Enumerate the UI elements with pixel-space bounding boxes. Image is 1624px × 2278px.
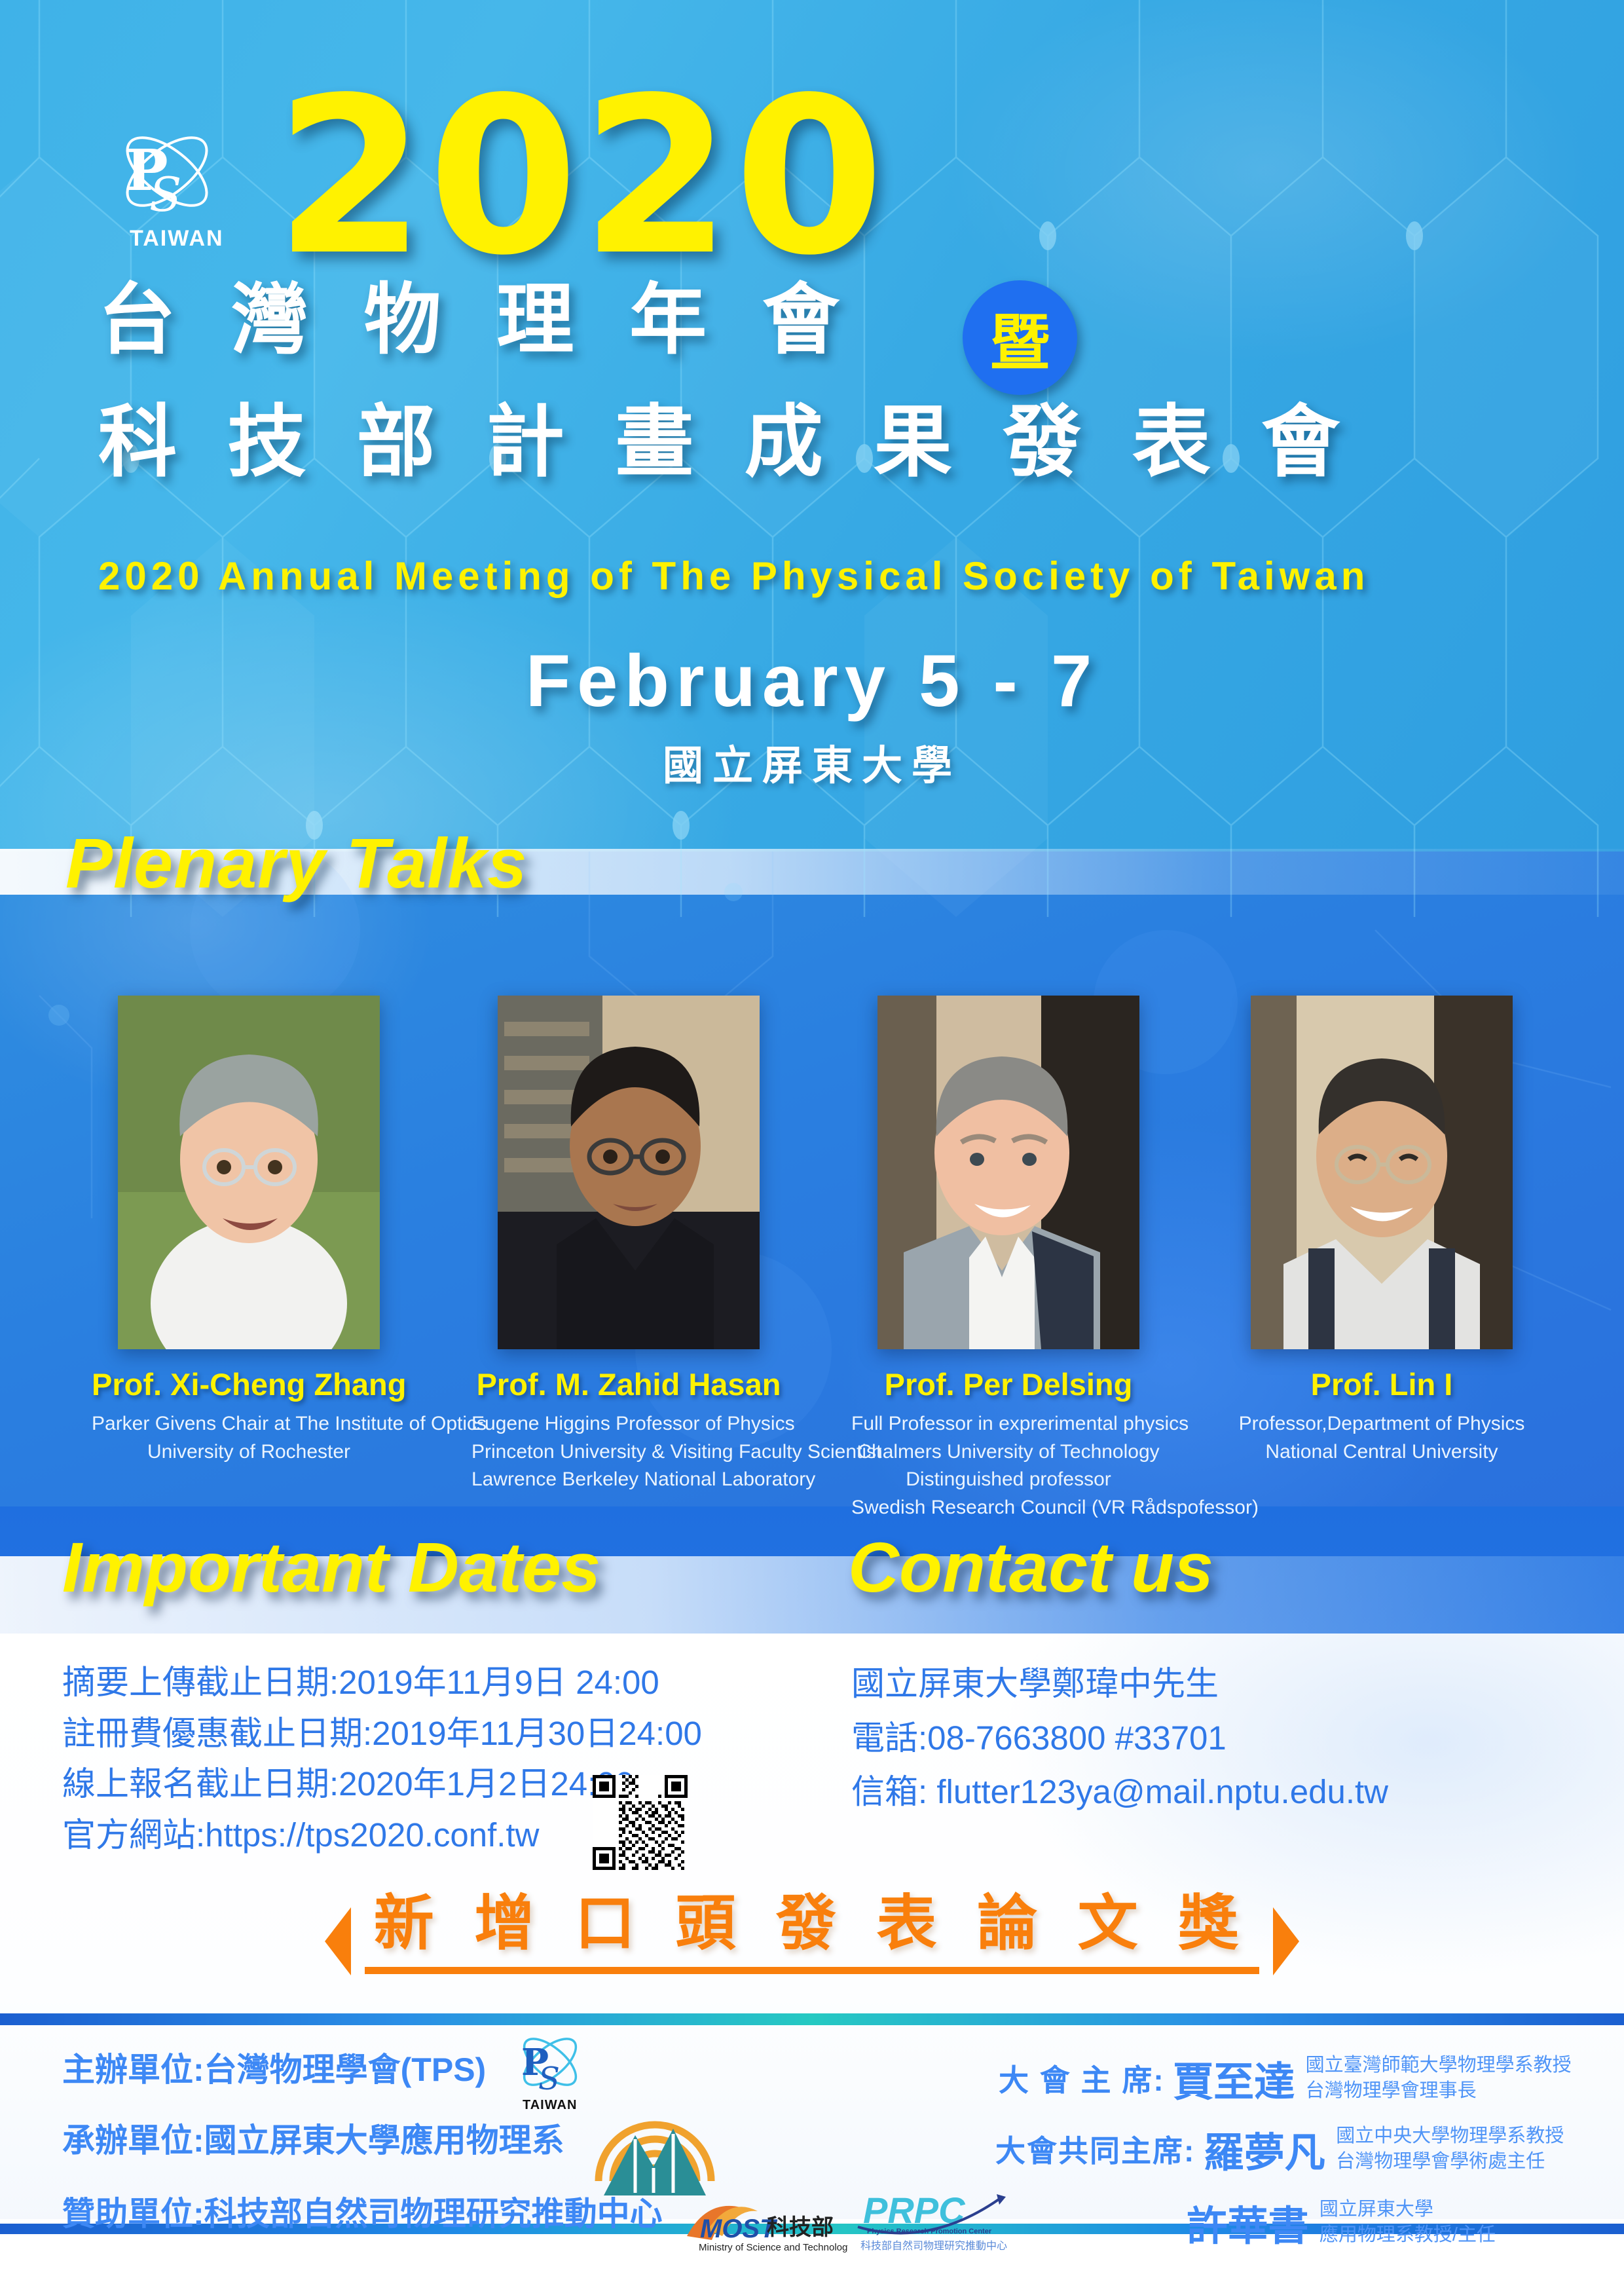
speaker-affiliation: Full Professor in exprerimental physics … <box>851 1410 1166 1522</box>
affiliation-line: Distinguished professor <box>851 1466 1166 1494</box>
contact-person: 國立屏東大學鄭瑋中先生 <box>851 1657 1572 1711</box>
contact-email[interactable]: 信箱: flutter123ya@mail.nptu.edu.tw <box>851 1765 1572 1820</box>
svg-text:S: S <box>538 2061 560 2097</box>
tps-taiwan-logo: P S TAIWAN <box>98 111 236 255</box>
chinese-title-line2: 科 技 部 計 畫 成 果 發 表 會 <box>98 403 1354 481</box>
affiliation-line: Parker Givens Chair at The Institute of … <box>92 1410 406 1438</box>
affiliation-line: Swedish Research Council (VR Rådspofesso… <box>851 1494 1166 1522</box>
footer-divider-top <box>0 2013 1624 2025</box>
speaker-card: Prof. M. Zahid Hasan Eugene Higgins Prof… <box>471 996 786 1494</box>
speaker-card: Prof. Per Delsing Full Professor in expr… <box>851 996 1166 1522</box>
speaker-photo <box>877 996 1139 1349</box>
chair-desc-line: 國立屏東大學 <box>1319 2197 1496 2222</box>
prpc-center-logo: PRPC Physics Research Promotion Center 科… <box>851 2186 1015 2255</box>
organizer-host: 承辦單位:國立屏東大學應用物理系 <box>62 2114 564 2161</box>
speaker-card: Prof. Xi-Cheng Zhang Parker Givens Chair… <box>92 996 406 1466</box>
affiliation-line: Lawrence Berkeley National Laboratory <box>471 1466 786 1494</box>
contact-us-heading: Contact us <box>848 1526 1213 1608</box>
chinese-title-line1: 台 灣 物 理 年 會 <box>98 282 857 359</box>
plenary-talks-heading: Plenary Talks <box>65 822 527 904</box>
nptu-university-logo <box>589 2083 720 2207</box>
chair-label: 大 會 主 席: <box>999 2057 1165 2100</box>
svg-text:S: S <box>149 167 181 222</box>
svg-text:科技部自然司物理研究推動中心: 科技部自然司物理研究推動中心 <box>860 2239 1007 2252</box>
svg-text:科技部: 科技部 <box>767 2214 834 2241</box>
year-title: 2020 <box>275 69 887 285</box>
most-ministry-logo: MOST 科技部 Ministry of Science and Technol… <box>684 2193 848 2255</box>
chair-name: 賈至達 <box>1173 2049 1295 2108</box>
important-dates-heading: Important Dates <box>62 1526 600 1608</box>
chair-desc-line: 國立中央大學物理學系教授 <box>1336 2123 1564 2149</box>
speaker-affiliation: Professor,Department of Physics National… <box>1225 1410 1539 1466</box>
award-banner: 新 增 口 頭 發 表 論 文 獎 <box>0 1875 1624 1975</box>
chair-name: 許華書 <box>1187 2193 1308 2252</box>
award-banner-text: 新 增 口 頭 發 表 論 文 獎 <box>365 1875 1260 1974</box>
right-arrow-icon <box>1273 1907 1299 1975</box>
affiliation-line: Eugene Higgins Professor of Physics <box>471 1410 786 1438</box>
ji-badge: 暨 <box>963 280 1077 395</box>
date-item: 摘要上傳截止日期:2019年11月9日 24:00 <box>62 1657 796 1708</box>
speaker-name: Prof. Lin I <box>1225 1366 1539 1402</box>
chair-name: 羅夢凡 <box>1204 2119 1325 2178</box>
chair-label: 大會共同主席: <box>995 2127 1195 2171</box>
chair-desc-line: 國立臺灣師範大學物理學系教授 <box>1306 2053 1572 2078</box>
speaker-name: Prof. Xi-Cheng Zhang <box>92 1366 406 1402</box>
contact-list: 國立屏東大學鄭瑋中先生 電話:08-7663800 #33701 信箱: flu… <box>851 1657 1572 1820</box>
tps-taiwan-logo-footer: P S TAIWAN <box>504 2028 596 2113</box>
speaker-photo <box>1251 996 1513 1349</box>
chair-row: 許華書 國立屏東大學 應用物理系教授/主任 <box>1179 2193 1496 2252</box>
speaker-photo <box>498 996 760 1349</box>
conference-date: February 5 - 7 <box>0 639 1624 723</box>
chair-desc-line: 台灣物理學會理事長 <box>1306 2078 1572 2104</box>
speaker-affiliation: Parker Givens Chair at The Institute of … <box>92 1410 406 1466</box>
conference-poster: P S TAIWAN 2020 台 灣 物 理 年 會 科 技 部 計 畫 成 … <box>0 0 1624 2278</box>
chair-desc-line: 台灣物理學會學術處主任 <box>1336 2149 1564 2175</box>
affiliation-line: Chalmers University of Technology <box>851 1438 1166 1466</box>
speaker-affiliation: Eugene Higgins Professor of Physics Prin… <box>471 1410 786 1494</box>
chair-row: 大 會 主 席: 賈至達 國立臺灣師範大學物理學系教授 台灣物理學會理事長 <box>999 2049 1572 2108</box>
speakers-list: Prof. Xi-Cheng Zhang Parker Givens Chair… <box>0 996 1624 1533</box>
conference-venue: 國立屏東大學 <box>0 732 1624 791</box>
qr-code[interactable] <box>593 1775 688 1870</box>
chair-description: 國立屏東大學 應用物理系教授/主任 <box>1319 2197 1496 2248</box>
english-subtitle: 2020 Annual Meeting of The Physical Soci… <box>98 553 1369 599</box>
chair-desc-line: 應用物理系教授/主任 <box>1319 2222 1496 2248</box>
chair-description: 國立臺灣師範大學物理學系教授 台灣物理學會理事長 <box>1306 2053 1572 2104</box>
chair-row: 大會共同主席: 羅夢凡 國立中央大學物理學系教授 台灣物理學會學術處主任 <box>995 2119 1564 2178</box>
svg-text:Physics Research Promotion Cen: Physics Research Promotion Center <box>867 2228 992 2235</box>
speaker-name: Prof. Per Delsing <box>851 1366 1166 1402</box>
affiliation-line: University of Rochester <box>92 1438 406 1466</box>
left-arrow-icon <box>325 1907 351 1975</box>
speaker-photo <box>118 996 380 1349</box>
affiliation-line: Full Professor in exprerimental physics <box>851 1410 1166 1438</box>
affiliation-line: Professor,Department of Physics <box>1225 1410 1539 1438</box>
svg-text:TAIWAN: TAIWAN <box>130 226 224 251</box>
organizer-main: 主辦單位:台灣物理學會(TPS) <box>62 2044 486 2091</box>
date-item: 註冊費優惠截止日期:2019年11月30日24:00 <box>62 1708 796 1759</box>
speaker-card: Prof. Lin I Professor,Department of Phys… <box>1225 996 1539 1466</box>
contact-phone: 電話:08-7663800 #33701 <box>851 1711 1572 1766</box>
speaker-name: Prof. M. Zahid Hasan <box>471 1366 786 1402</box>
affiliation-line: National Central University <box>1225 1438 1539 1466</box>
organizer-sponsor: 贊助單位:科技部自然司物理研究推動中心 <box>62 2188 663 2235</box>
svg-text:Ministry of Science and Techno: Ministry of Science and Technology <box>699 2242 848 2253</box>
svg-text:TAIWAN: TAIWAN <box>523 2098 577 2112</box>
chair-description: 國立中央大學物理學系教授 台灣物理學會學術處主任 <box>1336 2123 1564 2175</box>
affiliation-line: Princeton University & Visiting Faculty … <box>471 1438 786 1466</box>
